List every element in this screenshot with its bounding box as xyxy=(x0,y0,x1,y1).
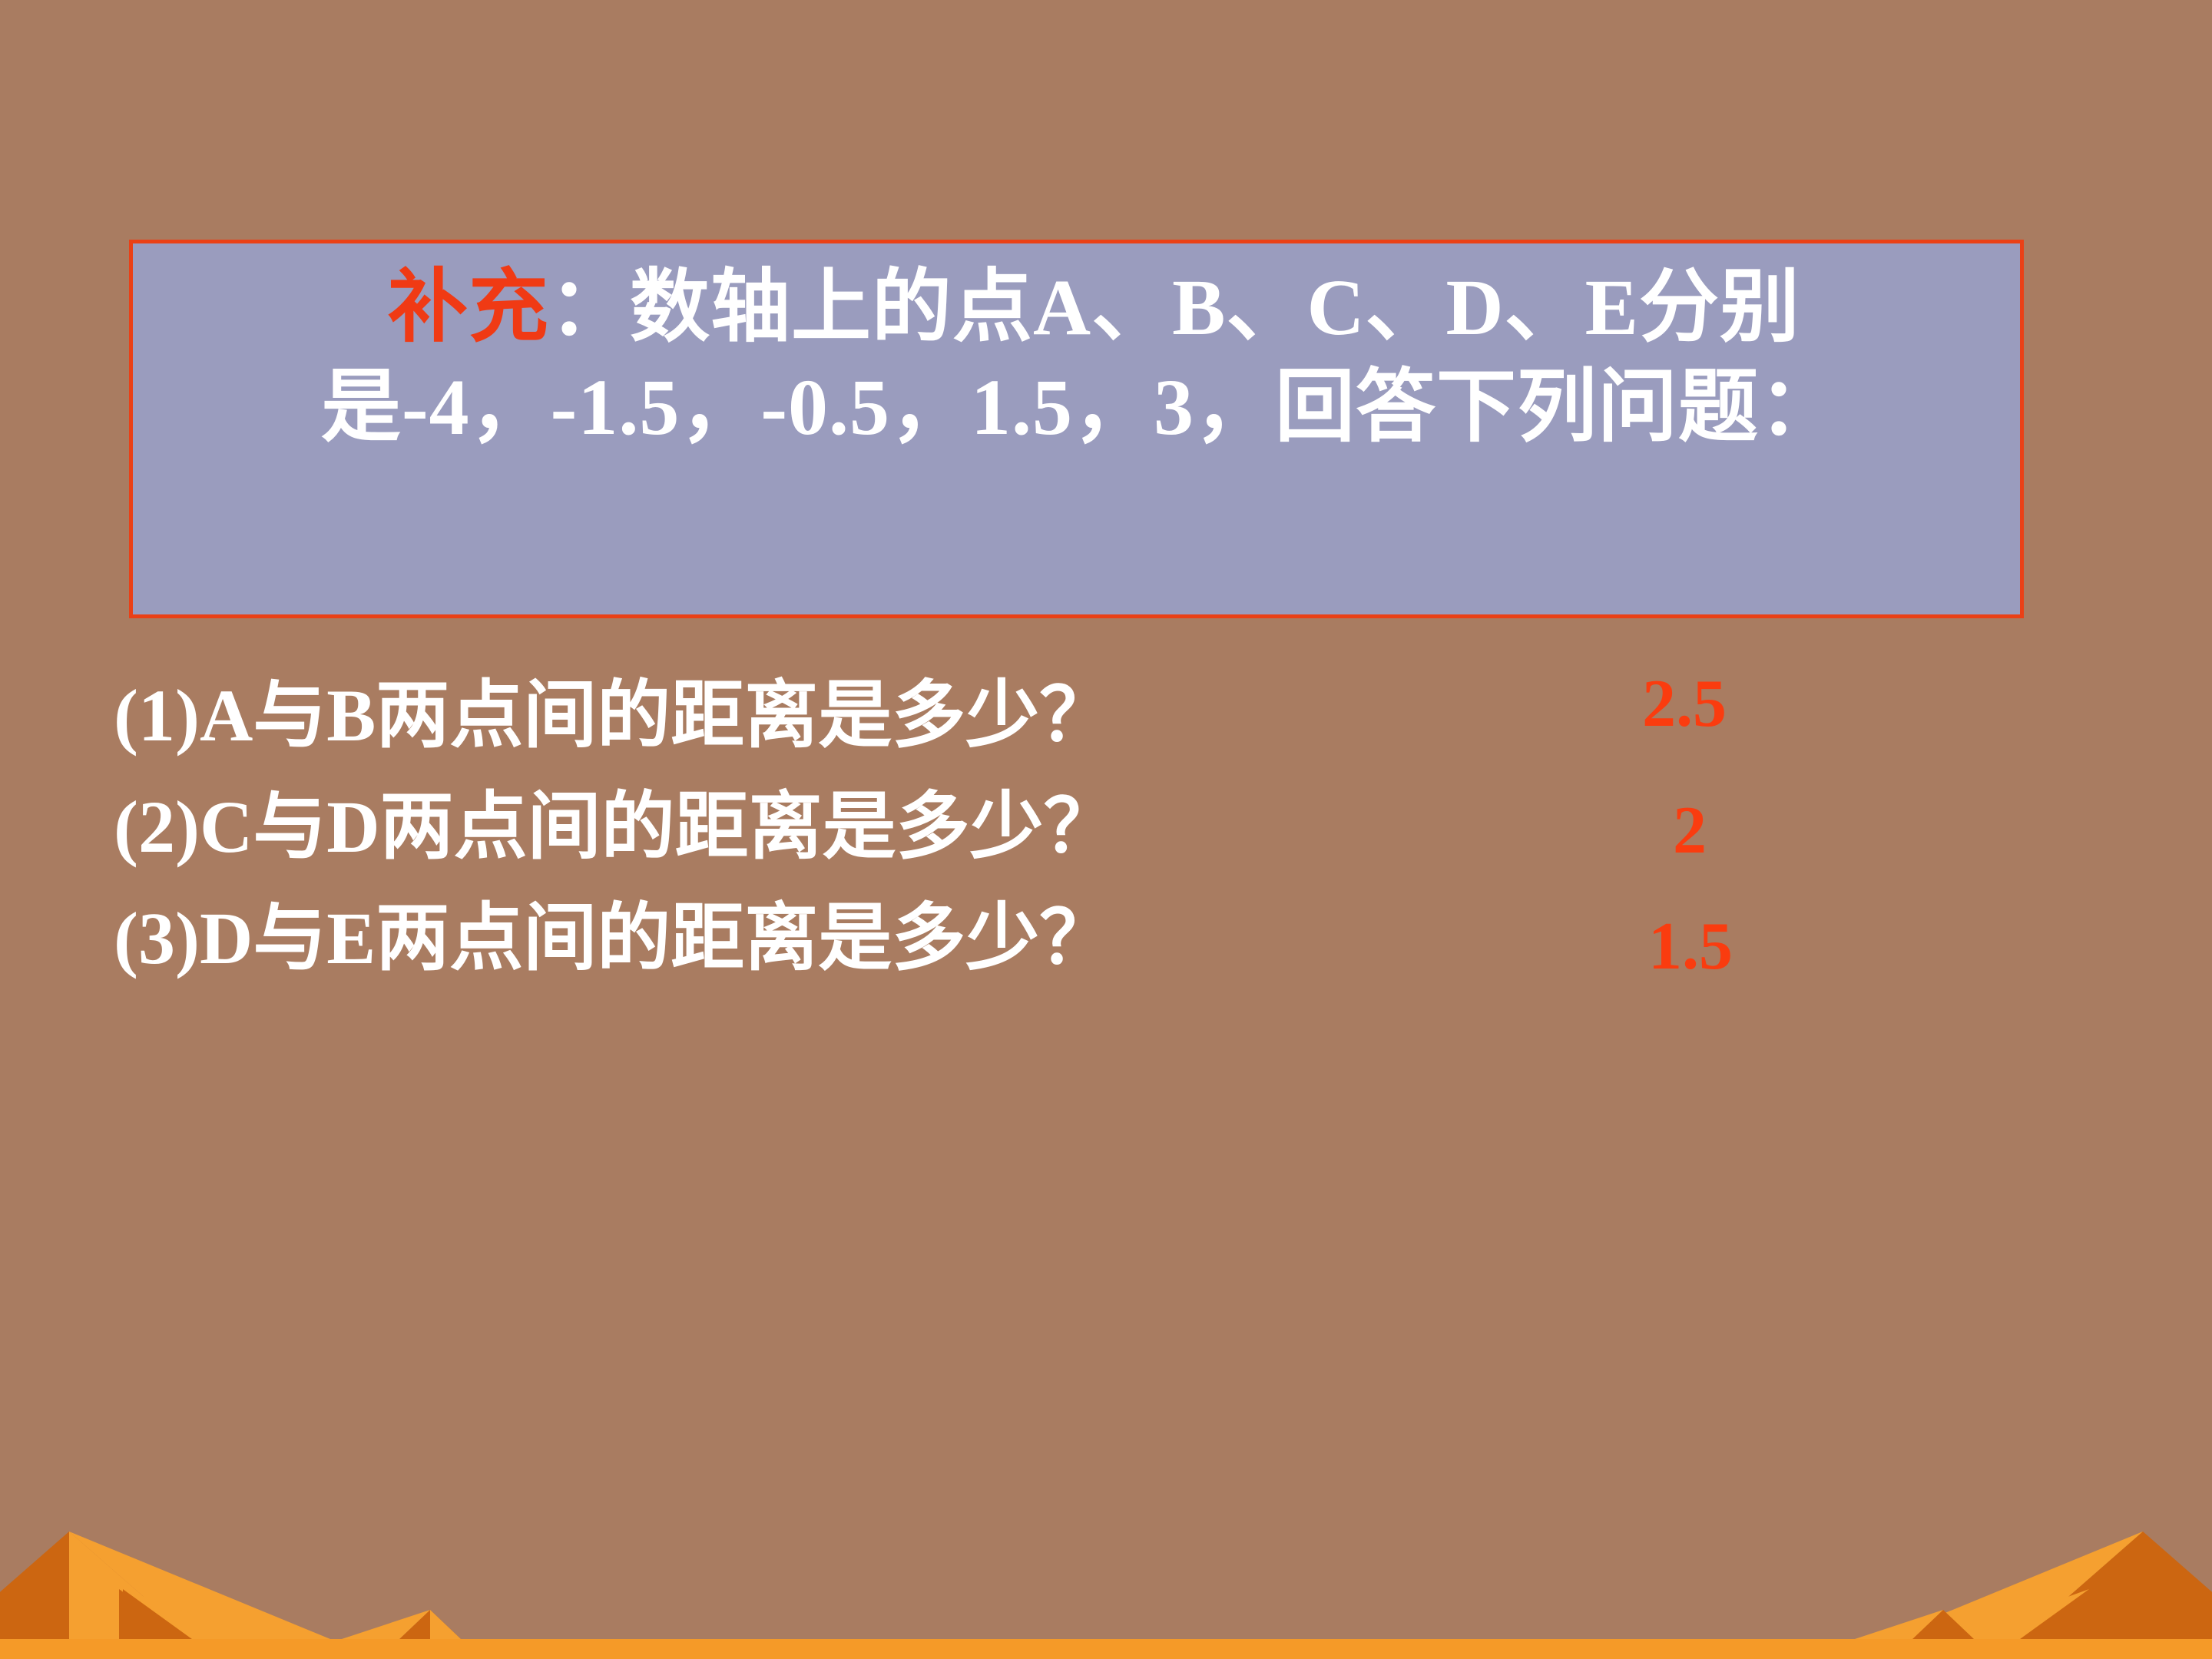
pyramid-right-icon xyxy=(1720,1516,2212,1639)
question-text: (1)A与B两点间的距离是多少？ xyxy=(114,670,1113,762)
question-row: (1)A与B两点间的距离是多少？ 2.5 xyxy=(114,670,2034,781)
slide-canvas: 补充：数轴上的点A、B、C、D、E分别 是-4，-1.5，-0.5，1.5，3，… xyxy=(0,0,2212,1659)
question-list: (1)A与B两点间的距离是多少？ 2.5 (2)C与D两点间的距离是多少？ 2 … xyxy=(114,670,2034,1004)
pyramid-left-icon xyxy=(0,1516,492,1639)
question-answer: 2.5 xyxy=(1642,664,1727,745)
pyramid-decoration-right xyxy=(1720,1516,2212,1639)
question-text: (2)C与D两点间的距离是多少？ xyxy=(114,781,1118,873)
question-row: (3)D与E两点间的距离是多少？ 1.5 xyxy=(114,892,2034,1004)
question-answer: 1.5 xyxy=(1648,906,1733,988)
bottom-accent-bar xyxy=(0,1639,2212,1659)
problem-statement-line-1-rest: ：数轴上的点A、B、C、D、E分别 xyxy=(549,263,1800,352)
question-row: (2)C与D两点间的距离是多少？ 2 xyxy=(114,781,2034,892)
problem-statement-box: 补充：数轴上的点A、B、C、D、E分别 是-4，-1.5，-0.5，1.5，3，… xyxy=(129,240,2024,618)
supplement-label: 补充 xyxy=(388,263,549,352)
problem-statement-line-1: 补充：数轴上的点A、B、C、D、E分别 xyxy=(133,263,2020,353)
problem-statement-line-2: 是-4，-1.5，-0.5，1.5，3，回答下列问题： xyxy=(133,363,2020,452)
pyramid-decoration-left xyxy=(0,1516,492,1639)
question-text: (3)D与E两点间的距离是多少？ xyxy=(114,892,1113,985)
question-answer: 2 xyxy=(1673,790,1707,872)
